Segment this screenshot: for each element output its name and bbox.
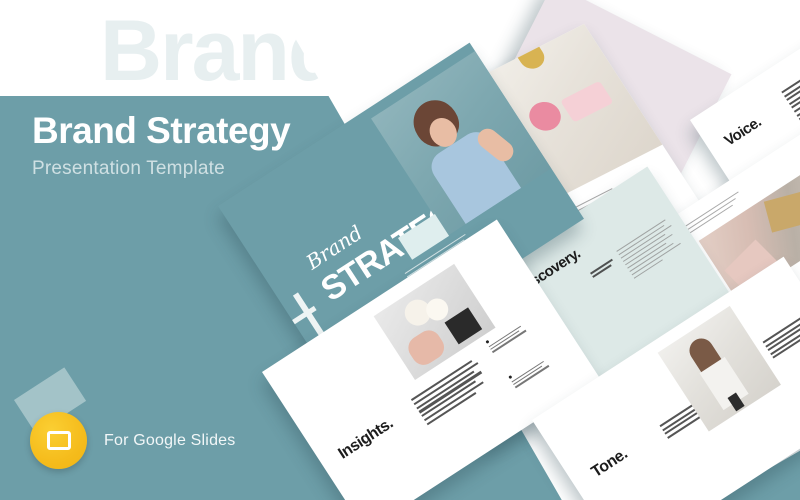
google-slides-icon (47, 431, 71, 450)
badge-circle (30, 412, 87, 469)
page-title: Brand Strategy (32, 112, 290, 151)
google-slides-badge[interactable]: For Google Slides (30, 412, 235, 469)
slide-title: Voice. (721, 114, 764, 150)
slide-title: Insights. (335, 415, 396, 463)
preview-canvas: Brand Strategy premiumslides (0, 0, 800, 500)
hero-text-block: Brand Strategy Presentation Template (32, 112, 290, 180)
badge-label: For Google Slides (104, 432, 235, 450)
slide-body-text-2 (763, 313, 800, 361)
slide-bullet-2 (508, 355, 550, 390)
slide-body-text (781, 50, 800, 122)
slide-title: Tone. (589, 445, 631, 481)
slide-body-text (616, 218, 686, 281)
slide-label (590, 259, 616, 280)
page-subtitle: Presentation Template (32, 158, 290, 180)
